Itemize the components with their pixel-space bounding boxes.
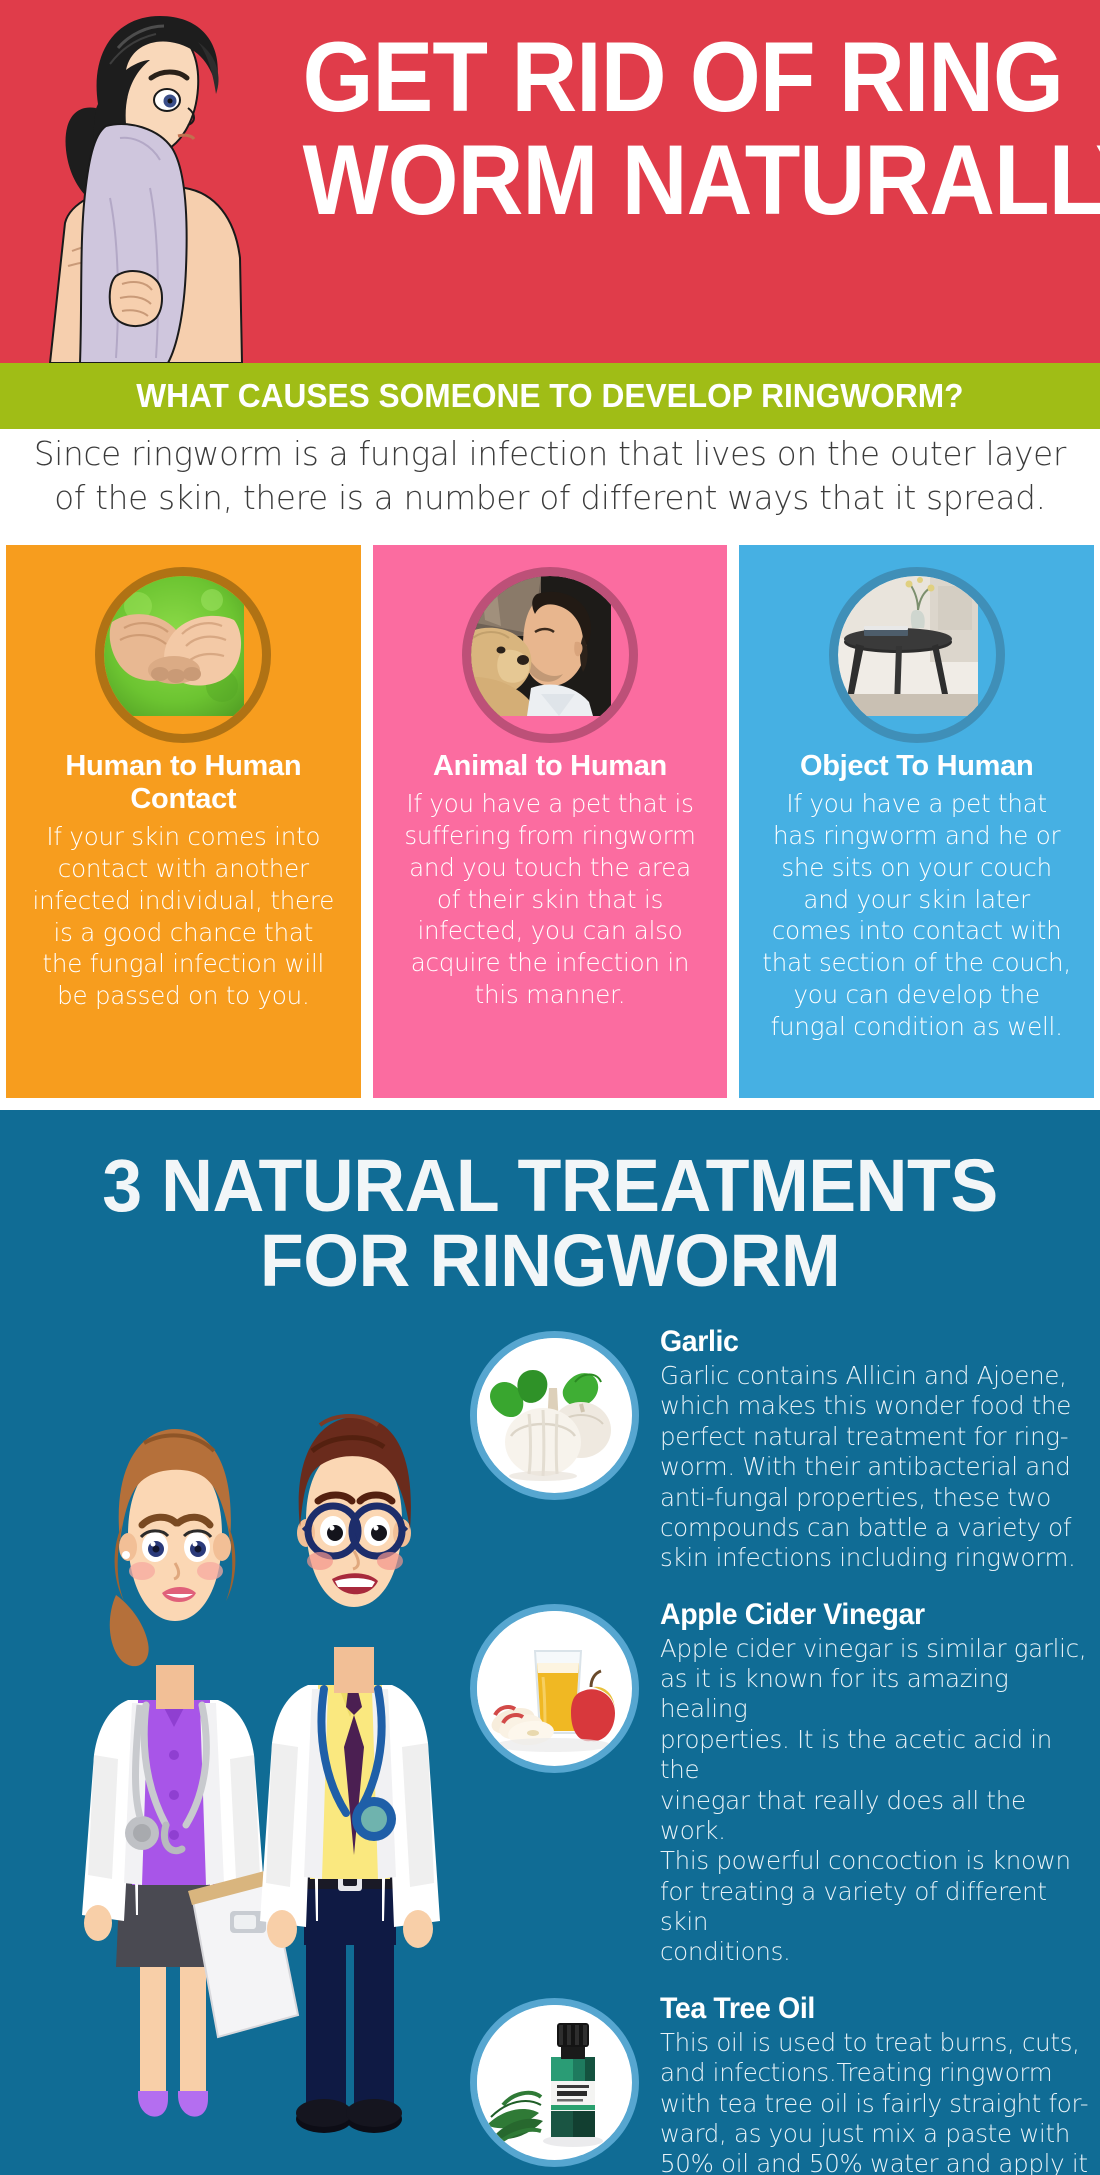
intro-paragraph: Since ringworm is a fungal infection tha… xyxy=(0,432,1100,520)
treatment-body-line: This powerful concoction is known xyxy=(660,1846,1090,1876)
cause-card-title-line-1: Human to Human xyxy=(14,750,353,783)
cause-card-body-line: of their skin that is xyxy=(385,884,716,916)
causes-section-bar: WHAT CAUSES SOMEONE TO DEVELOP RINGWORM? xyxy=(0,363,1100,429)
garlic-image xyxy=(470,1331,639,1500)
cause-card-body-line: comes into contact with xyxy=(751,915,1082,947)
treatment-garlic[interactable]: Garlic Garlic contains Allicin and Ajoen… xyxy=(470,1325,1090,1574)
cause-card-body-line: If you have a pet that is xyxy=(385,788,716,820)
treatment-body-line: Garlic contains Allicin and Ajoene, xyxy=(660,1361,1090,1391)
treatment-body-line: skin infections including ringworm. xyxy=(660,1543,1090,1573)
cause-card-animal-to-human[interactable]: Animal to Human If you have a pet that i… xyxy=(373,545,728,1098)
treatment-heading: Apple Cider Vinegar xyxy=(660,1598,1069,1632)
cause-card-human-to-human[interactable]: Human to Human Contact If your skin come… xyxy=(6,545,361,1098)
causes-section-label: WHAT CAUSES SOMEONE TO DEVELOP RINGWORM? xyxy=(136,377,963,415)
treatment-body: Garlic contains Allicin and Ajoene, whic… xyxy=(660,1361,1090,1574)
treatments-title-line-1: 3 NATURAL TREATMENTS xyxy=(17,1148,1084,1223)
treatments-title-line-2: FOR RINGWORM xyxy=(17,1223,1084,1298)
treatments-list: Garlic Garlic contains Allicin and Ajoen… xyxy=(470,1325,1090,2175)
intro-line-2: of the skin, there is a number of differ… xyxy=(0,476,1100,520)
cause-card-body-line: she sits on your couch xyxy=(751,852,1082,884)
treatment-body-line: perfect natural treatment for ring- xyxy=(660,1422,1090,1452)
cause-cards: Human to Human Contact If your skin come… xyxy=(6,545,1094,1098)
treatment-body-line: which makes this wonder food the xyxy=(660,1391,1090,1421)
side-table-image xyxy=(829,567,1005,743)
cause-card-body-line: infected, you can also xyxy=(385,915,716,947)
infographic-page: GET RID OF RING WORM NATURALLY WHAT CAUS… xyxy=(0,0,1100,2175)
cause-card-body-line: If your skin comes into xyxy=(18,821,349,853)
cause-card-body-line: is a good chance that xyxy=(18,917,349,949)
cause-card-body-line: contact with another xyxy=(18,853,349,885)
cause-card-body: If you have a pet that has ringworm and … xyxy=(751,788,1082,1043)
treatment-body-line: properties. It is the acetic acid in the xyxy=(660,1725,1090,1786)
treatment-body-line: anti-fungal properties, these two xyxy=(660,1483,1090,1513)
intro-line-1: Since ringworm is a fungal infection tha… xyxy=(0,432,1100,476)
cause-card-body-line: acquire the infection in xyxy=(385,947,716,979)
cause-card-title: Animal to Human xyxy=(381,750,720,783)
hands-holding-image xyxy=(95,567,271,743)
header-title-line-1: GET RID OF RING xyxy=(303,28,1053,125)
two-doctors-illustration xyxy=(20,1355,460,2155)
cause-card-object-to-human[interactable]: Object To Human If you have a pet that h… xyxy=(739,545,1094,1098)
treatment-body-line: Apple cider vinegar is similar garlic, xyxy=(660,1634,1090,1664)
header-banner: GET RID OF RING WORM NATURALLY xyxy=(0,0,1100,363)
cause-card-title: Human to Human Contact xyxy=(14,750,353,816)
cause-card-body: If your skin comes into contact with ano… xyxy=(18,821,349,1012)
treatment-body-line: vinegar that really does all the work. xyxy=(660,1786,1090,1847)
cause-card-body-line: infected individual, there xyxy=(18,885,349,917)
treatment-body-line: 50% oil and 50% water and apply it xyxy=(660,2149,1090,2175)
cause-card-body-line: the fungal infection will xyxy=(18,948,349,980)
cause-card-body-line: and you touch the area xyxy=(385,852,716,884)
cause-card-body-line: be passed on to you. xyxy=(18,980,349,1012)
woman-drying-hair-illustration xyxy=(10,8,275,363)
cause-card-body: If you have a pet that is suffering from… xyxy=(385,788,716,1011)
treatments-section-title: 3 NATURAL TREATMENTS FOR RINGWORM xyxy=(17,1148,1084,1299)
cause-card-title-line-1: Animal to Human xyxy=(381,750,720,783)
cause-card-body-line: and your skin later xyxy=(751,884,1082,916)
treatment-body-line: with tea tree oil is fairly straight for… xyxy=(660,2089,1090,2119)
cause-card-body-line: fungal condition as well. xyxy=(751,1011,1082,1043)
cause-card-body-line: that section of the couch, xyxy=(751,947,1082,979)
cause-card-body-line: has ringworm and he or xyxy=(751,820,1082,852)
treatment-body-line: for treating a variety of different skin xyxy=(660,1877,1090,1938)
treatments-section: 3 NATURAL TREATMENTS FOR RINGWORM xyxy=(0,1110,1100,2175)
treatment-body-line: ward, as you just mix a paste with xyxy=(660,2119,1090,2149)
treatment-apple-cider-vinegar[interactable]: Apple Cider Vinegar Apple cider vinegar … xyxy=(470,1598,1090,1968)
cause-card-body-line: If you have a pet that xyxy=(751,788,1082,820)
man-kissing-dog-image xyxy=(462,567,638,743)
cause-card-title-line-2: Contact xyxy=(14,783,353,816)
cause-card-body-line: suffering from ringworm xyxy=(385,820,716,852)
treatment-body-line: conditions. xyxy=(660,1937,1090,1967)
treatment-tea-tree-oil[interactable]: Tea Tree Oil This oil is used to treat b… xyxy=(470,1992,1090,2175)
treatment-heading: Garlic xyxy=(660,1325,1069,1359)
header-title-line-2: WORM NATURALLY xyxy=(303,131,1053,228)
header-title: GET RID OF RING WORM NATURALLY xyxy=(270,28,1085,228)
treatment-body-line: compounds can battle a variety of xyxy=(660,1513,1090,1543)
tea-tree-oil-image xyxy=(470,1998,639,2167)
treatment-body-line: as it is known for its amazing healing xyxy=(660,1664,1090,1725)
treatment-heading: Tea Tree Oil xyxy=(660,1992,1069,2026)
cause-card-title-line-1: Object To Human xyxy=(747,750,1086,783)
treatment-body: Apple cider vinegar is similar garlic, a… xyxy=(660,1634,1090,1968)
apple-cider-vinegar-image xyxy=(470,1604,639,1773)
cause-card-title: Object To Human xyxy=(747,750,1086,783)
treatment-body-line: worm. With their antibacterial and xyxy=(660,1452,1090,1482)
treatment-body-line: and infections.Treating ringworm xyxy=(660,2058,1090,2088)
treatment-body-line: This oil is used to treat burns, cuts, xyxy=(660,2028,1090,2058)
treatment-body: This oil is used to treat burns, cuts, a… xyxy=(660,2028,1090,2175)
cause-card-body-line: this manner. xyxy=(385,979,716,1011)
cause-card-body-line: you can develop the xyxy=(751,979,1082,1011)
